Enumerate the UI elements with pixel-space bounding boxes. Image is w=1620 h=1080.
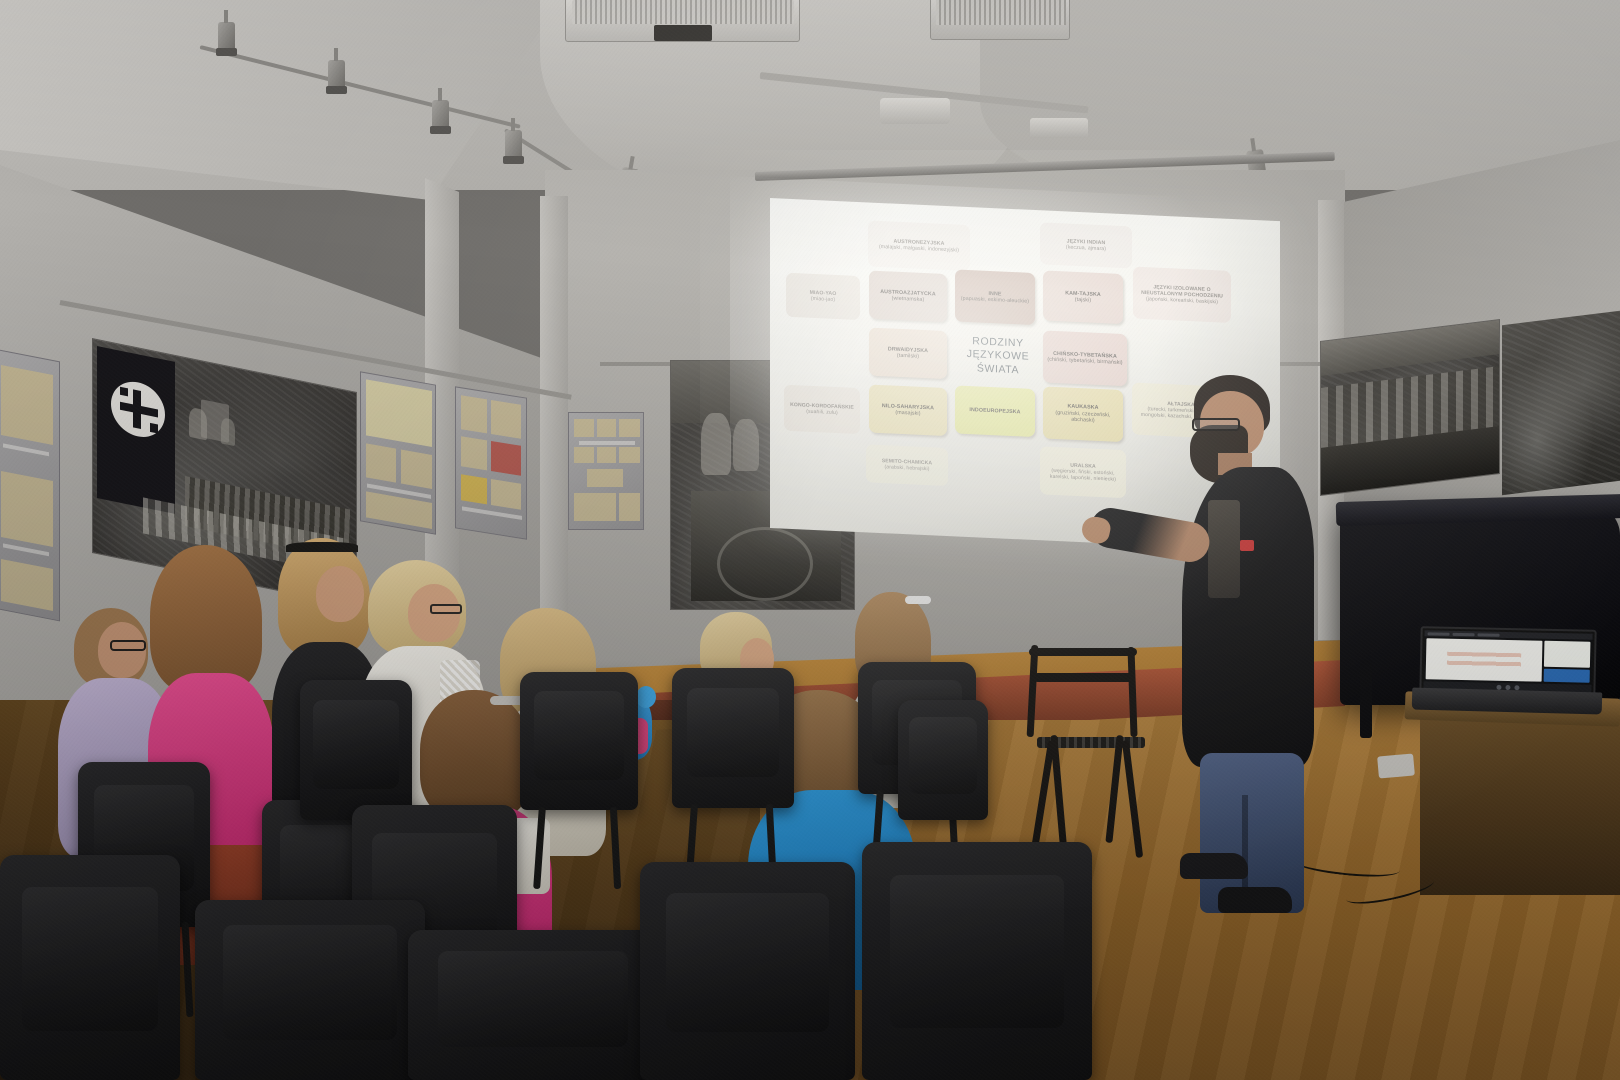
slide-box-austronezyjska: AUSTRONEZYJSKA (malajski, malgaski, indo… xyxy=(868,220,970,271)
chair-back-post xyxy=(1127,647,1137,737)
piano-leg xyxy=(1360,660,1372,738)
slide-box-chinsko-tybetanska: CHIŃSKO-TYBETAŃSKA (chiński, tybetański,… xyxy=(1043,330,1127,386)
slide-box-kaukaska: KAUKASKA (gruziński, czeczeński, abchask… xyxy=(1043,386,1123,442)
slide-box-sub: (gruziński, czeczeński, abchaski) xyxy=(1046,409,1120,425)
slide-title-line-1: RODZINY xyxy=(972,335,1023,349)
slide-box-title: INDOEUROPEJSKA xyxy=(969,407,1020,416)
exhibit-panel xyxy=(455,386,527,539)
slide-box-sub: (arabski, hebrajski) xyxy=(882,464,932,472)
mural-historical-crowd xyxy=(1320,319,1500,496)
headband-icon xyxy=(286,542,358,552)
slide-box-semito-chamicka: SEMITO-CHAMICKA (arabski, hebrajski) xyxy=(866,444,948,486)
track-light-icon xyxy=(328,60,345,90)
ac-control-box xyxy=(654,25,712,41)
audience-chair[interactable] xyxy=(898,700,988,820)
exhibit-panel-map xyxy=(360,371,436,534)
slide-box-uralska: URALSKA (węgierski, fiński, estoński, ka… xyxy=(1040,446,1126,498)
slide-box-nilo-saharyjska: NILO-SAHARYJSKA (masajski) xyxy=(869,384,947,436)
ceiling-speaker-icon xyxy=(880,98,950,124)
laptop-tab[interactable] xyxy=(1428,632,1450,635)
chair-leg xyxy=(1050,735,1067,845)
glasses-icon xyxy=(430,604,462,614)
wall-pilaster xyxy=(540,196,568,666)
audience-chair[interactable] xyxy=(520,672,638,810)
laptop-notes-pane xyxy=(1544,669,1590,683)
ceiling-speaker-icon xyxy=(1030,118,1088,138)
chair-leg xyxy=(1105,735,1123,843)
laptop-slide-preview xyxy=(1426,638,1543,681)
exhibit-panel xyxy=(568,412,644,530)
ac-vent-secondary xyxy=(936,0,1066,25)
laptop-next-slide-thumb[interactable] xyxy=(1544,641,1591,668)
presenter-torso xyxy=(1182,467,1314,767)
laptop-ui xyxy=(1423,630,1592,694)
slide-box-austroazjatycka: AUSTROAZJATYCKA (wietnamska) xyxy=(869,270,947,322)
slide-box-sub: (węgierski, fiński, estoński, karelski, … xyxy=(1043,467,1123,483)
air-conditioner-icon xyxy=(565,0,800,42)
audience-chair[interactable] xyxy=(408,930,658,1080)
laptop-tab[interactable] xyxy=(1478,633,1500,636)
audience-chair[interactable] xyxy=(640,862,855,1080)
chair-leg xyxy=(1122,740,1143,858)
audience-chair[interactable] xyxy=(672,668,794,808)
slide-box-drwaidyjska: DRWAIDYJSKA (tamilski) xyxy=(869,327,947,379)
presenter-shoe xyxy=(1218,887,1292,913)
track-light-icon xyxy=(505,130,522,160)
slide-box-indoeuropejska: INDOEUROPEJSKA xyxy=(955,385,1035,437)
power-strip xyxy=(1377,753,1415,778)
presenter-shirt-graphic xyxy=(1208,500,1240,598)
audience-chair[interactable] xyxy=(0,855,180,1080)
slide-box-inne: INNE (papuaski, eskimo-aleuckie) xyxy=(955,269,1035,325)
hair-clip-icon xyxy=(905,596,931,604)
slide-box-kongo-kordofanskie: KONGO-KORDOFAŃSKIE (suahili, zulu) xyxy=(784,385,860,434)
presenter-shoe xyxy=(1180,853,1248,879)
audience-chair[interactable] xyxy=(195,900,425,1080)
laptop-slide-content xyxy=(1447,652,1522,667)
ac-vent xyxy=(572,0,794,24)
side-table-body xyxy=(1420,715,1620,895)
slide-box-jezyki-izolowane: JĘZYKI IZOLOWANE O NIEUSTALONYM POCHODZE… xyxy=(1133,266,1231,322)
audience-chair[interactable] xyxy=(862,842,1092,1080)
glasses-icon xyxy=(110,640,146,651)
slide-title-line-2: JĘZYKOWE xyxy=(967,348,1030,363)
laptop-tab[interactable] xyxy=(1453,632,1475,635)
slide-center-title: RODZINY JĘZYKOWE ŚWIATA xyxy=(955,334,1041,378)
slide-box-jezyki-indian: JĘZYKI INDIAN (keczua, ajmara) xyxy=(1040,222,1132,268)
slide-title-line-3: ŚWIATA xyxy=(977,362,1019,376)
slide-box-sub: (keczua, ajmara) xyxy=(1066,244,1106,252)
track-light-icon xyxy=(218,22,235,52)
chair-back-rail xyxy=(1029,648,1137,656)
presenter xyxy=(1160,375,1340,905)
exhibit-panel xyxy=(0,349,60,622)
laptop-screen[interactable] xyxy=(1419,626,1596,698)
glasses-icon xyxy=(1192,418,1240,431)
slide-box-sub: (miao-jao) xyxy=(810,296,837,304)
audience-chair[interactable] xyxy=(300,680,412,820)
plush-toy-ear xyxy=(636,686,656,708)
slide-box-kam-tajska: KAM-TAJSKA (tajski) xyxy=(1043,270,1123,324)
mural-historical-crowd xyxy=(1502,311,1620,495)
track-light-icon xyxy=(432,100,449,130)
slide-box-miao-yao: MIAO-YAO (miao-jao) xyxy=(786,273,860,320)
air-conditioner-secondary-icon xyxy=(930,0,1070,40)
laptop-workspace xyxy=(1424,636,1593,685)
lecture-room-photo: AUSTRONEZYJSKA (malajski, malgaski, indo… xyxy=(0,0,1620,1080)
laptop-presenter-panel xyxy=(1544,641,1591,683)
presenter-badge xyxy=(1240,540,1254,551)
chair-back-post xyxy=(1027,645,1039,737)
chair-back-rail xyxy=(1033,673,1133,682)
